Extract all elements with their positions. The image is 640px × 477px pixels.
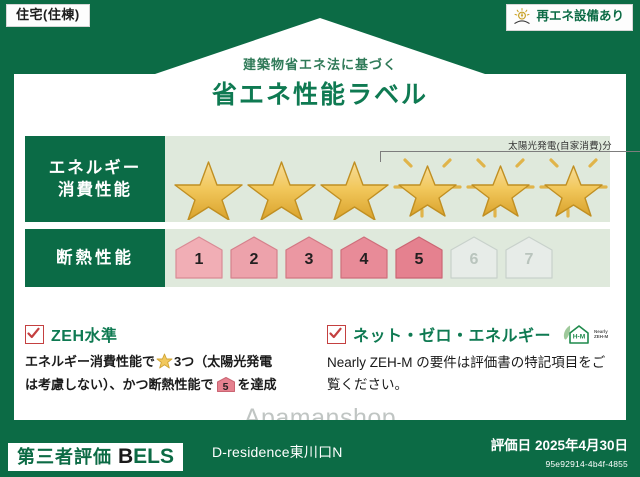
- solar-bracket-label: 太陽光発電(自家消費)分: [380, 138, 640, 152]
- net-zero-energy-description: Nearly ZEH-M の要件は評価書の特記項目をご覧ください。: [327, 352, 613, 395]
- zeh-m-caption-line2: ZEH-M: [594, 334, 608, 339]
- insulation-level-1: 1: [173, 234, 225, 281]
- evaluation-date: 評価日 2025年4月30日: [491, 434, 628, 454]
- bels-en-label: BELS: [118, 446, 174, 467]
- solar-sun-icon: [512, 7, 532, 27]
- performance-card: エネルギー 消費性能 太陽光発電(自家消費)分: [25, 136, 610, 294]
- check-icon: [327, 325, 346, 344]
- inline-house-number: 5: [216, 379, 236, 395]
- svg-text:H-M: H-M: [573, 333, 586, 340]
- check-icon: [25, 325, 44, 344]
- renewable-equipment-chip: 再エネ設備あり: [506, 4, 633, 31]
- star-filled: [319, 154, 390, 220]
- renewable-chip-label: 再エネ設備あり: [536, 10, 624, 24]
- energy-label-line2: 消費性能: [58, 179, 132, 201]
- insulation-level-number: 5: [393, 251, 445, 269]
- inline-house-badge: 5: [216, 376, 236, 393]
- insulation-level-4: 4: [338, 234, 390, 281]
- energy-label-line1: エネルギー: [49, 157, 142, 179]
- star-solar: [465, 154, 536, 220]
- inline-star-icon: [156, 353, 173, 375]
- title-subtitle: 建築物省エネ法に基づく: [0, 54, 640, 73]
- net-zero-energy-column: ネット・ゼロ・エネルギー H-M Nearly ZEH-M Nearly ZEH…: [327, 322, 613, 395]
- net-zero-energy-header: ネット・ゼロ・エネルギー H-M Nearly ZEH-M: [327, 322, 613, 346]
- evaluation-id: 95e92914-4b4f-4855: [545, 459, 628, 469]
- zeh-standard-title: ZEH水準: [51, 322, 118, 346]
- zeh-standard-description: エネルギー消費性能で3つ（太陽光発電は考慮しない）、かつ断熱性能で5を達成: [25, 352, 311, 395]
- zeh-m-logo: H-M Nearly ZEH-M: [562, 322, 608, 346]
- star-filled: [246, 154, 317, 220]
- title-main: 省エネ性能ラベル: [0, 75, 640, 111]
- zeh-standard-header: ZEH水準: [25, 322, 311, 346]
- insulation-level-2: 2: [228, 234, 280, 281]
- energy-performance-label: 住宅(住棟) 再エネ設備あり 建築物省エネ法に基づく 省エネ性能ラベル: [0, 0, 640, 477]
- insulation-level-number: 4: [338, 251, 390, 269]
- bels-badge: 第三者評価 BELS: [8, 443, 183, 471]
- title-block: 建築物省エネ法に基づく 省エネ性能ラベル: [0, 54, 640, 111]
- insulation-level-number: 6: [448, 251, 500, 269]
- zeh-desc-part1: エネルギー消費性能で: [25, 354, 155, 369]
- bels-letters-els: ELS: [133, 445, 174, 468]
- zeh-standard-column: ZEH水準 エネルギー消費性能で3つ（太陽光発電は考慮しない）、かつ断熱性能で5…: [25, 322, 311, 395]
- insulation-level-7: 7: [503, 234, 555, 281]
- star-filled: [173, 154, 244, 220]
- insulation-level-3: 3: [283, 234, 335, 281]
- star-solar: [392, 154, 463, 220]
- zeh-desc-part3: を達成: [238, 377, 277, 392]
- building-name: D-residence東川口N: [212, 442, 343, 462]
- insulation-level-scale: 1 2 3: [173, 234, 555, 281]
- energy-performance-label: エネルギー 消費性能: [25, 136, 165, 222]
- bels-letter-b: B: [118, 445, 133, 468]
- house-type-chip: 住宅(住棟): [6, 4, 90, 27]
- insulation-level-6: 6: [448, 234, 500, 281]
- net-zero-energy-title: ネット・ゼロ・エネルギー: [353, 322, 551, 346]
- insulation-performance-value: 1 2 3: [165, 229, 610, 287]
- insulation-label-text: 断熱性能: [56, 247, 134, 269]
- star-solar: [538, 154, 609, 220]
- insulation-performance-label: 断熱性能: [25, 229, 165, 287]
- zeh-desc-starcount: 3つ（太陽光発電: [174, 354, 272, 369]
- insulation-level-number: 7: [503, 251, 555, 269]
- insulation-level-number: 3: [283, 251, 335, 269]
- star-rating: [173, 154, 609, 220]
- energy-performance-value: 太陽光発電(自家消費)分: [165, 136, 610, 222]
- insulation-level-number: 2: [228, 251, 280, 269]
- energy-performance-row: エネルギー 消費性能 太陽光発電(自家消費)分: [25, 136, 610, 222]
- zeh-m-logo-caption: Nearly ZEH-M: [594, 329, 608, 339]
- zeh-desc-part2: は考慮しない）、かつ断熱性能で: [25, 377, 214, 392]
- bels-jp-label: 第三者評価: [17, 448, 112, 466]
- insulation-level-number: 1: [173, 251, 225, 269]
- zeh-section: ZEH水準 エネルギー消費性能で3つ（太陽光発電は考慮しない）、かつ断熱性能で5…: [25, 322, 613, 395]
- insulation-level-5: 5: [393, 234, 445, 281]
- insulation-performance-row: 断熱性能 1 2: [25, 229, 610, 287]
